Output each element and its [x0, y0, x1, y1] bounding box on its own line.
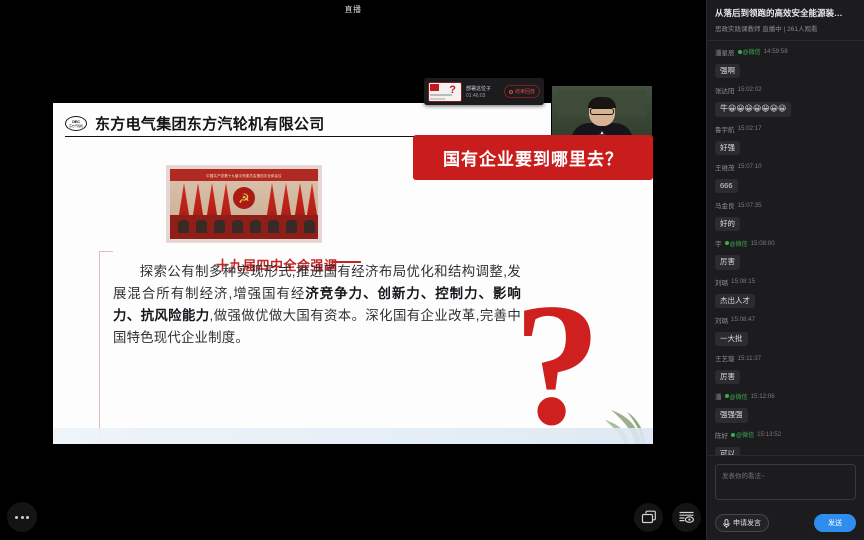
wechat-badge-label: @微信 — [730, 239, 748, 248]
chat-message: 张达阳15:02:02牛😀😀😀😀😀😀😀 — [715, 85, 856, 117]
chat-timestamp: 15:07:10 — [738, 163, 762, 170]
end-playback-label: 结束回放 — [515, 88, 535, 95]
conference-photo: 中国共产党第十九届中央委员会第四次全体会议 — [166, 165, 322, 243]
slide-footer-wave — [53, 428, 653, 444]
slide-bracket-left — [99, 251, 100, 444]
share-screen-button[interactable] — [634, 503, 663, 532]
end-playback-button[interactable]: 结束回放 — [504, 85, 540, 98]
participants-view-button[interactable] — [672, 503, 701, 532]
live-label: 直播 — [345, 4, 362, 15]
chat-timestamp: 15:11:37 — [738, 355, 762, 362]
company-logo-icon: DEC 东方汽轮机 — [65, 116, 87, 131]
chat-bubble: 可以 — [715, 447, 740, 455]
chat-user-name: 马金良 — [715, 200, 735, 210]
slide-company-name: 东方电气集团东方汽轮机有限公司 — [95, 113, 325, 134]
mini-player-thumbnail: ? — [428, 82, 462, 102]
request-to-speak-button[interactable]: 申请发言 — [715, 514, 769, 532]
chat-panel: 从落后到领跑的高效安全能源装… 思政实践课教师 直播中 | 261人观看 潘星辰… — [706, 0, 864, 540]
chat-timestamp: 15:07:35 — [738, 202, 762, 209]
slide-header: DEC 东方汽轮机 东方电气集团东方汽轮机有限公司 — [53, 113, 325, 134]
chat-input[interactable] — [715, 464, 856, 500]
callout-text: 国有企业要到哪里去？ — [443, 145, 623, 170]
slide-bracket-top — [99, 251, 113, 252]
chat-user-name: 张达阳 — [715, 85, 735, 95]
wechat-badge: @微信 — [725, 392, 748, 401]
chat-message: 潘星辰@微信14:59:58强啊 — [715, 47, 856, 78]
chat-timestamp: 15:02:17 — [738, 125, 762, 132]
chat-bubble: 杰出人才 — [715, 294, 755, 308]
send-button[interactable]: 发送 — [814, 514, 856, 532]
chat-bubble: 一大批 — [715, 332, 748, 346]
chat-message-header: 刘璐15:08:15 — [715, 277, 856, 287]
chat-user-name: 潘 — [715, 391, 722, 401]
chat-message-header: 张达阳15:02:02 — [715, 85, 856, 95]
wechat-dot-icon — [738, 50, 742, 54]
mini-player-meta: 部署这位子 01:46:03 — [466, 85, 500, 99]
chat-timestamp: 15:08:47 — [731, 316, 755, 323]
chat-user-name: 鲁宇航 — [715, 124, 735, 134]
wechat-badge-label: @微信 — [730, 392, 748, 401]
wechat-badge: @微信 — [725, 239, 748, 248]
chat-bubble: 牛😀😀😀😀😀😀😀 — [715, 102, 791, 117]
microphone-icon — [723, 519, 730, 528]
chat-bubble: 好强 — [715, 141, 740, 155]
party-emblem-icon — [233, 187, 255, 209]
chat-message-header: 马金良15:07:35 — [715, 200, 856, 210]
chat-message-list[interactable]: 潘星辰@微信14:59:58强啊张达阳15:02:02牛😀😀😀😀😀😀😀鲁宇航15… — [707, 41, 864, 455]
stage-topbar: 直播 — [0, 0, 706, 18]
stop-icon — [509, 90, 513, 94]
chat-message: 刘璐15:08:15杰出人才 — [715, 277, 856, 308]
chat-user-name: 潘星辰 — [715, 47, 735, 57]
wechat-badge-label: @微信 — [743, 47, 761, 56]
room-title: 从落后到领跑的高效安全能源装… — [715, 8, 856, 19]
slide-body-paragraph: 探索公有制多种实现形式,推进国有经济布局优化和结构调整,发展混合所有制经济,增强… — [113, 261, 521, 349]
screen-share-icon — [641, 510, 657, 526]
chat-message-header: 潘星辰@微信14:59:58 — [715, 47, 856, 57]
wechat-dot-icon — [731, 433, 735, 437]
photo-caption: 中国共产党第十九届中央委员会第四次全体会议 — [170, 169, 318, 181]
chat-message: 鲁宇航15:02:17好强 — [715, 124, 856, 155]
chat-bubble: 强强强 — [715, 408, 748, 422]
wechat-badge: @微信 — [731, 430, 754, 439]
chat-message-header: 鲁宇航15:02:17 — [715, 124, 856, 134]
chat-message: 潘@微信15:12:06强强强 — [715, 391, 856, 422]
chat-user-name: 刘璐 — [715, 315, 728, 325]
slide-body: 探索公有制多种实现形式,推进国有经济布局优化和结构调整,发展混合所有制经济,增强… — [113, 261, 521, 349]
more-options-button[interactable] — [7, 502, 37, 532]
chat-message-header: 陈好@微信15:13:52 — [715, 430, 856, 440]
chat-user-name: 王维茂 — [715, 162, 735, 172]
chat-bubble: 强啊 — [715, 64, 740, 78]
chat-message-header: 宇@微信15:08:00 — [715, 238, 856, 248]
chat-timestamp: 15:02:02 — [738, 86, 762, 93]
chat-message: 宇@微信15:08:00厉害 — [715, 238, 856, 269]
room-header: 从落后到领跑的高效安全能源装… 思政实践课教师 直播中 | 261人观看 — [707, 0, 864, 41]
mini-player-time: 01:46:03 — [466, 93, 500, 99]
ellipsis-icon — [15, 516, 29, 519]
chat-message-header: 潘@微信15:12:06 — [715, 391, 856, 401]
chat-bubble: 666 — [715, 179, 738, 193]
chat-message: 马金良15:07:35好的 — [715, 200, 856, 231]
chat-message: 刘璐15:08:47一大批 — [715, 315, 856, 346]
chat-bubble: 厉害 — [715, 370, 740, 384]
chat-timestamp: 15:08:00 — [751, 240, 775, 247]
callout-banner: 国有企业要到哪里去？ — [413, 135, 653, 180]
video-stage: 直播 ? 部署这位子 01:46:03 结束回放 DEC 东方汽轮机 — [0, 0, 706, 540]
chat-timestamp: 15:08:15 — [731, 278, 755, 285]
chat-message: 王维茂15:07:10666 — [715, 162, 856, 193]
wechat-dot-icon — [725, 241, 729, 245]
mini-player-title: 部署这位子 — [466, 85, 500, 92]
chat-user-name: 王艺璇 — [715, 353, 735, 363]
chat-message: 王艺璇15:11:37厉害 — [715, 353, 856, 384]
logo-line-1: DEC — [72, 120, 80, 124]
wechat-badge: @微信 — [738, 47, 761, 56]
chat-message-header: 王艺璇15:11:37 — [715, 353, 856, 363]
chat-bubble: 好的 — [715, 217, 740, 231]
chat-bubble: 厉害 — [715, 255, 740, 269]
mini-player-chip[interactable]: ? 部署这位子 01:46:03 结束回放 — [424, 78, 544, 105]
chat-user-name: 刘璐 — [715, 277, 728, 287]
chat-timestamp: 15:12:06 — [751, 393, 775, 400]
chat-user-name: 陈好 — [715, 430, 728, 440]
room-subtitle: 思政实践课教师 直播中 | 261人观看 — [715, 23, 856, 33]
live-class-app: 直播 ? 部署这位子 01:46:03 结束回放 DEC 东方汽轮机 — [0, 0, 864, 540]
chat-message-header: 王维茂15:07:10 — [715, 162, 856, 172]
wechat-badge-label: @微信 — [736, 430, 754, 439]
chat-user-name: 宇 — [715, 238, 722, 248]
logo-line-2: 东方汽轮机 — [69, 125, 83, 128]
list-eye-icon — [678, 509, 695, 526]
chat-composer: 申请发言 发送 — [707, 455, 864, 540]
wechat-dot-icon — [725, 394, 729, 398]
request-to-speak-label: 申请发言 — [733, 518, 761, 528]
composer-actions: 申请发言 发送 — [715, 514, 856, 532]
chat-message: 陈好@微信15:13:52可以 — [715, 430, 856, 455]
chat-timestamp: 14:59:58 — [764, 48, 788, 55]
chat-message-header: 刘璐15:08:47 — [715, 315, 856, 325]
chat-timestamp: 15:13:52 — [757, 431, 781, 438]
